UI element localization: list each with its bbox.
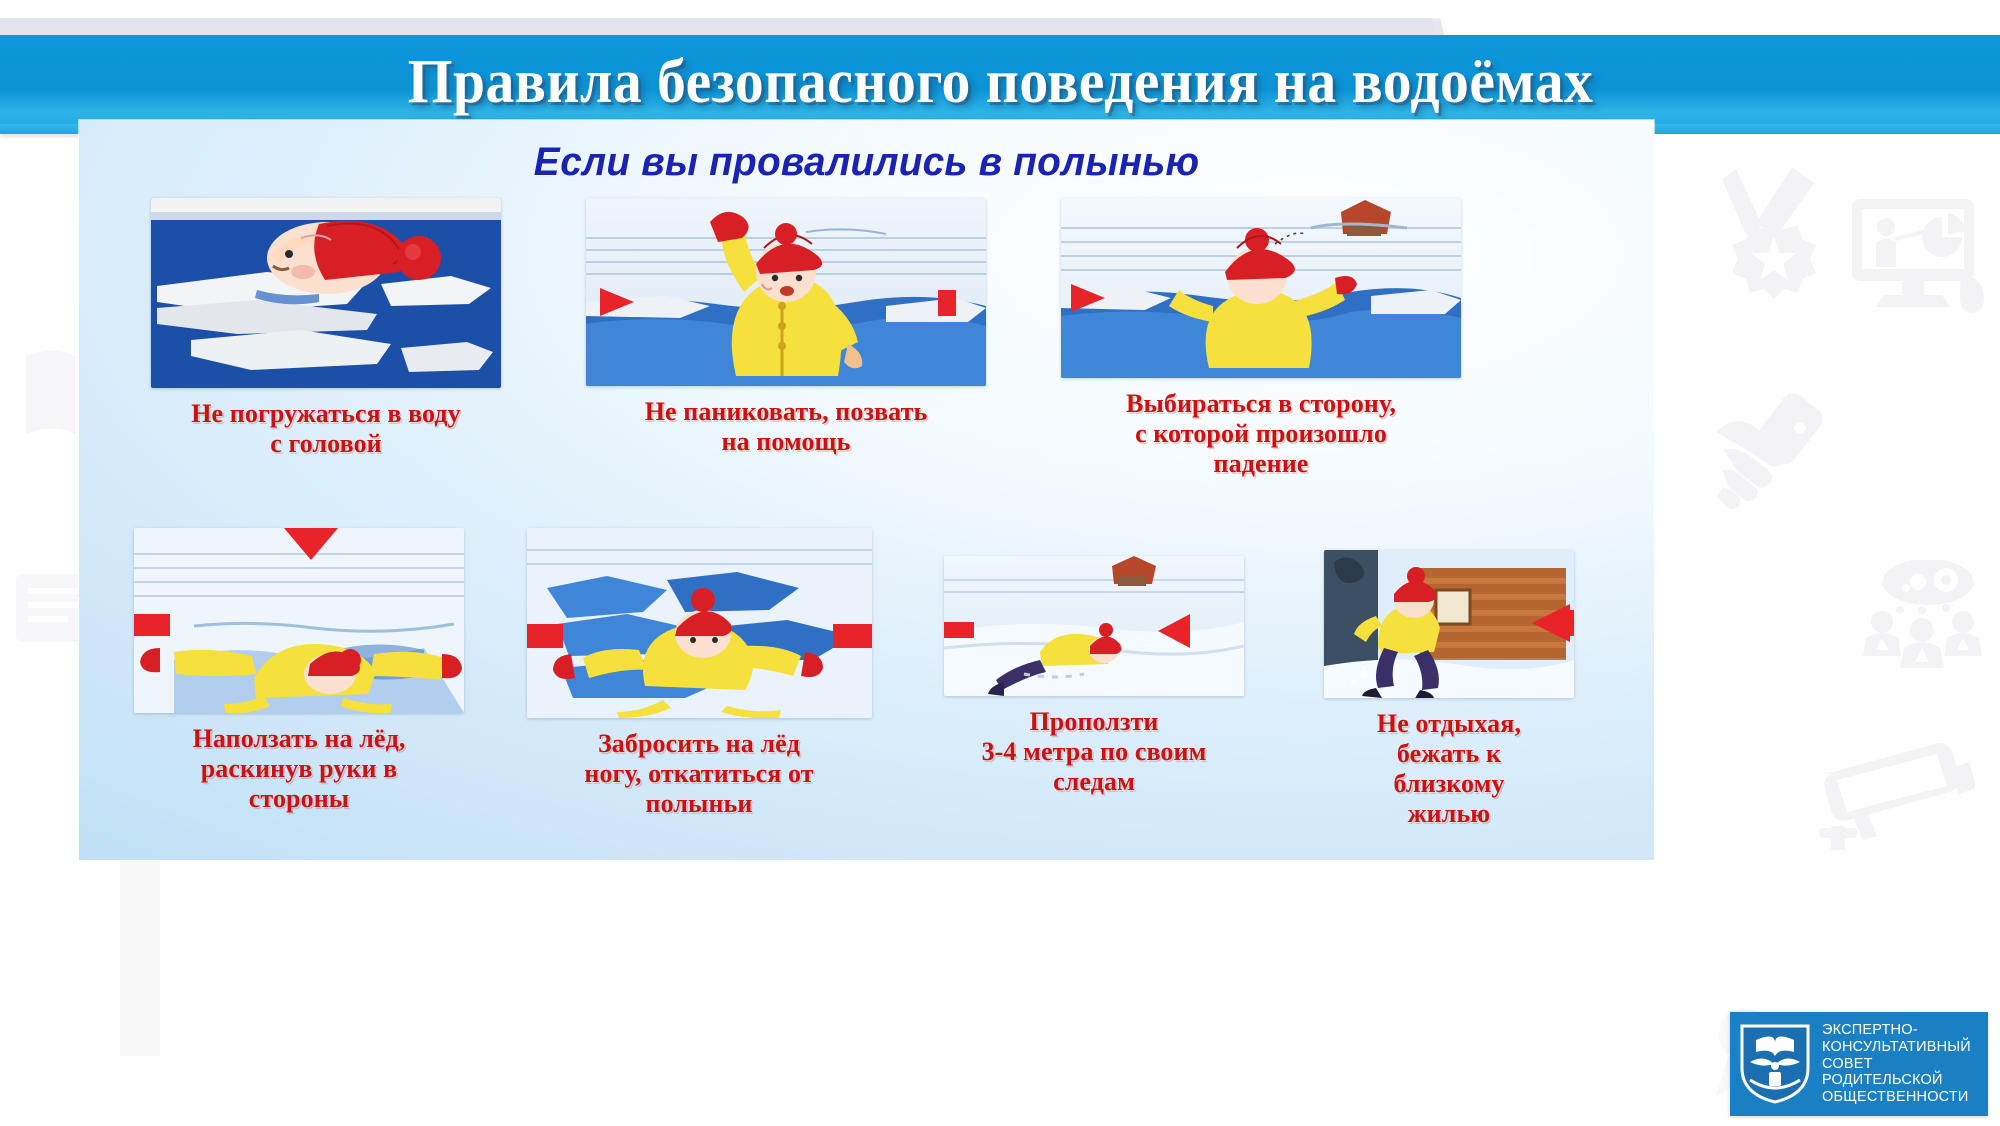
logo-text-block: Экспертно- консультативный совет родител… [1822,1022,1971,1106]
medal-star-icon [1718,165,1836,305]
steps-row-2: Наползать на лёд, раскинув руки в сторон… [79,528,1654,858]
logo-line-4: родительской [1822,1072,1971,1089]
safety-poster: Если вы провалились в полынью [79,120,1654,860]
step-caption-2: Не паниковать, позвать на помощь [645,397,928,457]
shield-emblem-icon [1736,1020,1814,1109]
step-caption-3: Выбираться в сторону, с которой произошл… [1126,389,1396,479]
step-caption-7: Не отдыхая, бежать к близкому жилью [1377,709,1521,830]
step-illustration-4 [134,528,464,713]
steps-row-1: Не погружаться в воду с головой [79,198,1654,518]
poster-heading: Если вы провалились в полынью [103,140,1631,185]
cctv-camera-icon [1815,740,1975,850]
step-caption-6: Проползти 3-4 метра по своим следам [982,707,1207,797]
logo-line-3: совет [1822,1056,1971,1073]
logo-line-5: общественности [1822,1089,1971,1106]
step-card-1: Не погружаться в воду с головой [101,198,551,518]
step-card-6: Проползти 3-4 метра по своим следам [899,528,1289,858]
step-caption-1: Не погружаться в воду с головой [191,399,461,459]
step-illustration-6 [944,556,1244,696]
handshake-icon [1708,388,1843,523]
step-card-4: Наползать на лёд, раскинув руки в сторон… [99,528,499,858]
monitor-presentation-icon [1850,195,2000,325]
organization-logo[interactable]: Экспертно- консультативный совет родител… [1730,1012,1988,1116]
step-illustration-3 [1061,198,1461,378]
step-illustration-2 [586,198,986,386]
people-gears-icon [1860,560,1985,670]
step-card-3: Выбираться в сторону, с которой произошл… [1021,198,1501,518]
step-caption-4: Наползать на лёд, раскинув руки в сторон… [193,724,406,814]
page-title: Правила безопасного поведения на водоёма… [407,51,1593,113]
step-caption-5: Забросить на лёд ногу, откатиться от пол… [584,729,813,819]
logo-line-2: консультативный [1822,1039,1971,1056]
step-illustration-1 [151,198,501,388]
step-card-5: Забросить на лёд ногу, откатиться от пол… [499,528,899,858]
step-card-2: Не паниковать, позвать на помощь [551,198,1021,518]
logo-line-1: Экспертно- [1822,1022,1971,1039]
step-card-7: Не отдыхая, бежать к близкому жилью [1289,528,1609,858]
step-illustration-7 [1324,550,1574,698]
step-illustration-5 [527,528,872,718]
